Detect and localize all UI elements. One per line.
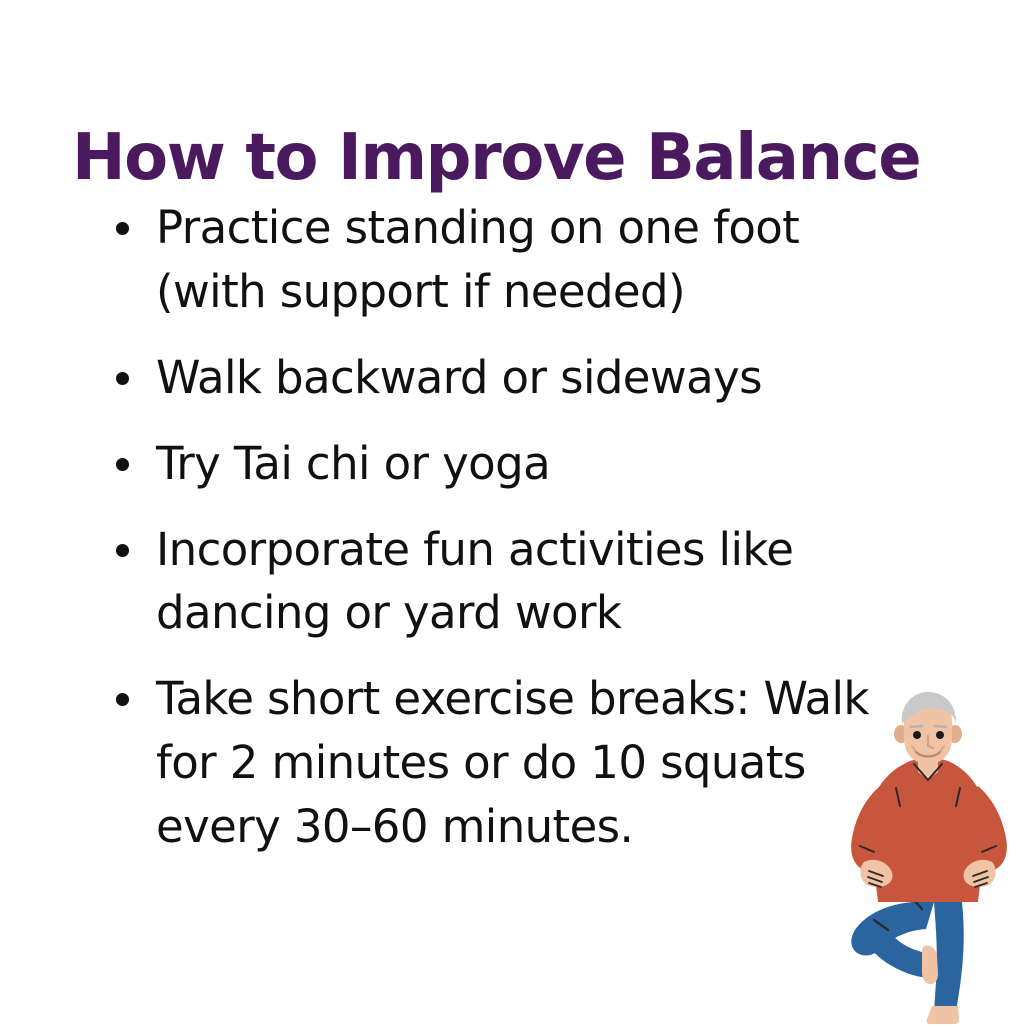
list-item-label: Walk backward or sideways: [156, 346, 908, 410]
slide-canvas: How to Improve Balance Practice standing…: [0, 0, 1030, 1030]
list-item: Try Tai chi or yoga: [108, 432, 908, 496]
list-item: Practice standing on one foot (with supp…: [108, 196, 908, 324]
older-adult-tree-pose-illustration: [838, 690, 1018, 1025]
bullet-dot-icon: [116, 372, 129, 385]
bullet-dot-icon: [116, 544, 129, 557]
list-item-label: Take short exercise breaks: Walk for 2 m…: [156, 667, 908, 859]
list-item: Take short exercise breaks: Walk for 2 m…: [108, 667, 908, 859]
list-item-label: Try Tai chi or yoga: [156, 432, 908, 496]
bullet-dot-icon: [116, 693, 129, 706]
bullet-dot-icon: [116, 458, 129, 471]
balance-tips-list: Practice standing on one foot (with supp…: [108, 196, 908, 859]
list-item: Incorporate fun activities like dancing …: [108, 518, 908, 646]
list-item-label: Practice standing on one foot (with supp…: [156, 196, 908, 324]
list-item: Walk backward or sideways: [108, 346, 908, 410]
list-item-label: Incorporate fun activities like dancing …: [156, 518, 908, 646]
page-title: How to Improve Balance: [72, 125, 972, 192]
bullet-dot-icon: [116, 222, 129, 235]
